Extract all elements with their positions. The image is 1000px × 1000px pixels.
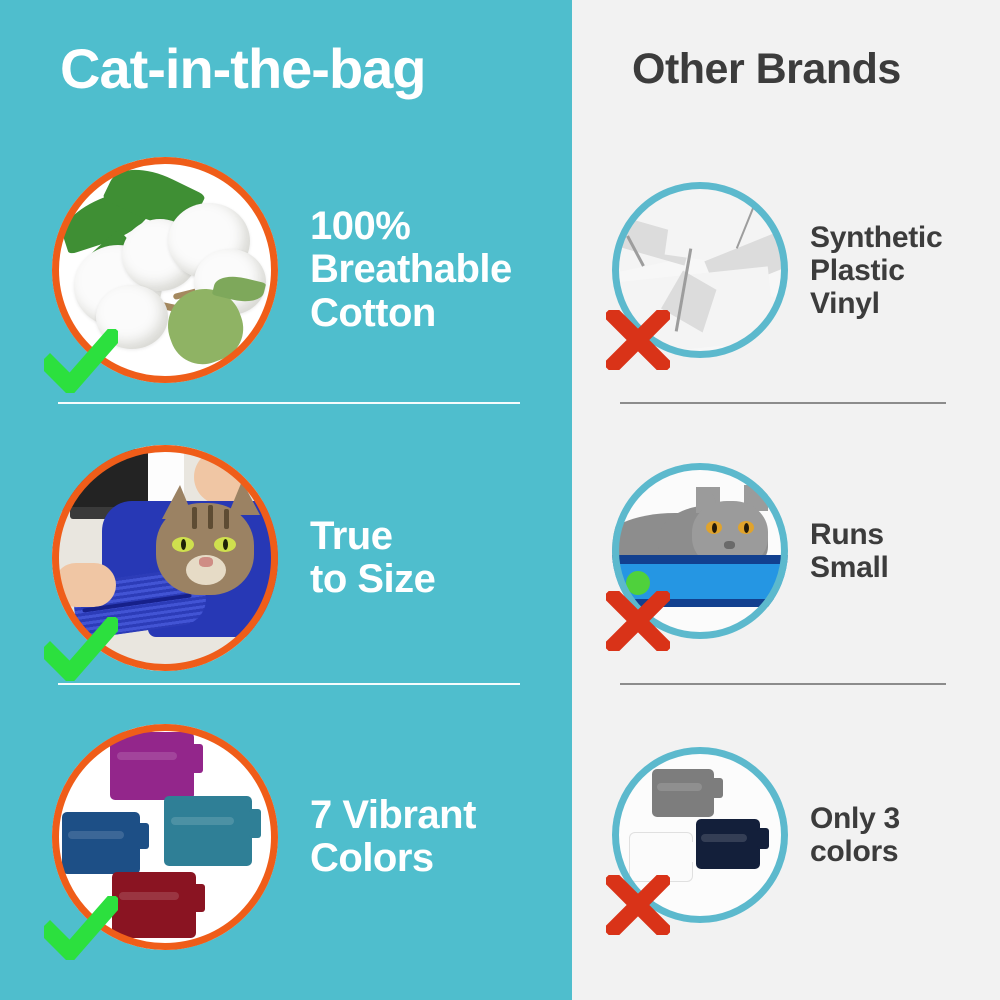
check-icon	[44, 329, 118, 393]
folded-colored-bags-photo	[52, 724, 278, 950]
drawback-line: colors	[810, 835, 900, 868]
x-icon	[606, 591, 670, 651]
feature-label-vibrant-colors: 7 Vibrant Colors	[310, 794, 476, 880]
other-brands-column-title: Other Brands	[632, 45, 901, 94]
feature-line: to Size	[310, 558, 435, 601]
gray-cat-in-blue-bed-photo	[612, 463, 788, 639]
crumpled-plastic-sheet-photo	[612, 182, 788, 358]
drawback-label-only-3-colors: Only 3 colors	[810, 802, 900, 868]
brand-column-title: Cat-in-the-bag	[60, 36, 426, 101]
drawback-line: Synthetic	[810, 221, 942, 254]
drawback-line: Only 3	[810, 802, 900, 835]
divider-left-1	[58, 402, 520, 404]
feature-row-vibrant-colors: 7 Vibrant Colors	[52, 722, 552, 952]
x-icon	[606, 310, 670, 370]
drawback-row-only-3-colors: Only 3 colors	[612, 745, 992, 925]
feature-line: Colors	[310, 837, 476, 880]
drawback-label-synthetic-plastic-vinyl: Synthetic Plastic Vinyl	[810, 221, 942, 320]
three-folded-items-photo	[612, 747, 788, 923]
drawback-row-synthetic-plastic-vinyl: Synthetic Plastic Vinyl	[612, 180, 992, 360]
feature-line: 7 Vibrant	[310, 794, 476, 837]
drawback-line: Vinyl	[810, 287, 942, 320]
feature-row-true-to-size: True to Size	[52, 443, 552, 673]
feature-row-breathable-cotton: 100% Breathable Cotton	[52, 155, 552, 385]
divider-right-2	[620, 683, 946, 685]
check-icon	[44, 896, 118, 960]
drawback-line: Runs	[810, 518, 889, 551]
check-icon	[44, 617, 118, 681]
divider-right-1	[620, 402, 946, 404]
feature-label-breathable-cotton: 100% Breathable Cotton	[310, 205, 512, 335]
x-icon	[606, 875, 670, 935]
feature-line: Breathable	[310, 248, 512, 291]
drawback-line: Small	[810, 551, 889, 584]
drawback-label-runs-small: Runs Small	[810, 518, 889, 584]
feature-line: 100%	[310, 205, 512, 248]
divider-left-2	[58, 683, 520, 685]
feature-line: True	[310, 515, 435, 558]
drawback-row-runs-small: Runs Small	[612, 461, 992, 641]
tabby-cat-in-blue-bag-photo	[52, 445, 278, 671]
comparison-infographic: Cat-in-the-bag Other Brands	[0, 0, 1000, 1000]
drawback-line: Plastic	[810, 254, 942, 287]
feature-line: Cotton	[310, 292, 512, 335]
cotton-bolls-photo	[52, 157, 278, 383]
feature-label-true-to-size: True to Size	[310, 515, 435, 601]
